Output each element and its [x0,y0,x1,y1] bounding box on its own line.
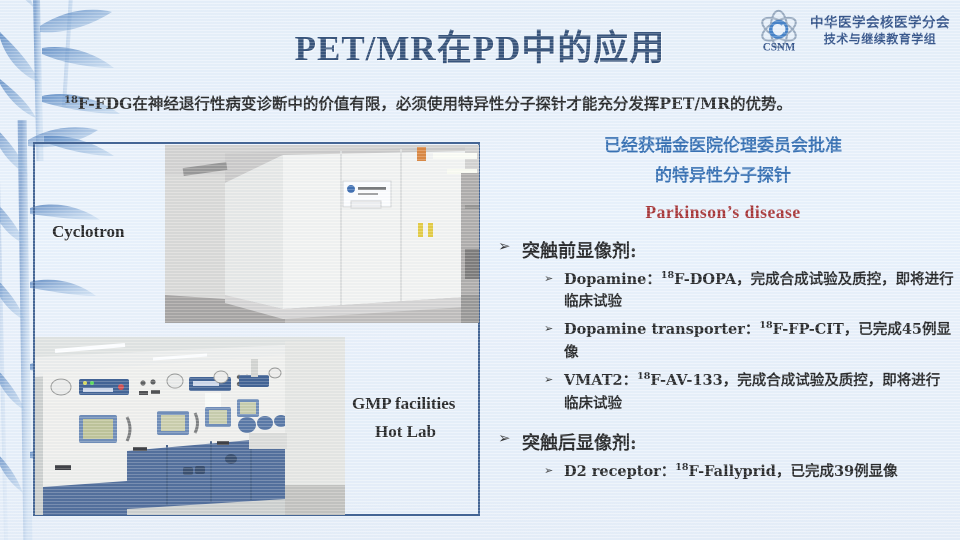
section-heading-text: 突触后显像剂: [522,429,637,455]
bullet-arrow-icon: ➢ [544,319,555,340]
lead-sentence: 18F-FDG在神经退行性病变诊断中的价值有限，必须使用特异性分子探针才能充分发… [64,92,944,114]
logo-line-2: 技术与继续教育学组 [810,32,950,47]
section-heading-presynaptic: ➢ 突触前显像剂: [492,237,954,263]
list-item: ➢ Dopamine：18F-DOPA，完成合成试验及质控，即将进行临床试验 [492,269,954,314]
bullet-arrow-icon: ➢ [498,237,512,257]
svg-text:CSNM: CSNM [763,41,796,53]
gmp-caption-line-2: Hot Lab [375,422,436,442]
item-superscript: 18 [759,321,772,332]
gmp-caption-line-1: GMP facilities [352,394,455,414]
cyclotron-photo-art [165,145,479,323]
logo-line-1: 中华医学会核医学分会 [810,15,950,32]
section-heading-postsynaptic: ➢ 突触后显像剂: [492,429,954,455]
csnm-atom-logo-icon: CSNM [754,8,804,54]
approval-line-1: 已经获瑞金医院伦理委员会批准 [492,132,954,162]
item-pre: Dopamine transporter： [564,321,759,338]
section-heading-text: 突触前显像剂: [522,237,637,263]
cyclotron-caption: Cyclotron [52,222,124,242]
hot-lab-photo-art [35,337,345,515]
item-post: F-Fallyprid，已完成39例显像 [689,463,898,480]
bullet-arrow-icon: ➢ [544,269,555,290]
bullet-arrow-icon: ➢ [498,429,512,449]
item-pre: Dopamine： [564,271,661,288]
slide-root: PET/MR在PD中的应用 CSNM 中华医学会核医学分会 技术与继续教育学组 … [0,0,960,540]
society-logo: CSNM 中华医学会核医学分会 技术与继续教育学组 [754,6,954,56]
disease-name: Parkinson’s disease [492,202,954,223]
list-item: ➢ D2 receptor：18F-Fallyprid，已完成39例显像 [492,461,954,483]
approval-line-2: 的特异性分子探针 [492,162,954,192]
list-item-text: Dopamine：18F-DOPA，完成合成试验及质控，即将进行临床试验 [564,269,954,314]
lead-superscript: 18 [64,95,78,106]
list-item-text: D2 receptor：18F-Fallyprid，已完成39例显像 [564,461,898,483]
item-pre: D2 receptor： [564,463,675,480]
item-pre: VMAT2： [564,372,637,389]
item-superscript: 18 [675,462,688,473]
hot-lab-photo [35,337,345,515]
bullet-arrow-icon: ➢ [544,461,555,482]
list-item: ➢ VMAT2：18F-AV-133，完成合成试验及质控，即将进行临床试验 [492,370,954,415]
list-item: ➢ Dopamine transporter：18F-FP-CIT，已完成45例… [492,319,954,364]
bullet-arrow-icon: ➢ [544,370,555,391]
list-item-text: Dopamine transporter：18F-FP-CIT，已完成45例显像 [564,319,954,364]
cyclotron-photo [165,145,479,323]
item-superscript: 18 [661,270,674,281]
item-superscript: 18 [637,372,650,383]
right-content-column: 已经获瑞金医院伦理委员会批准 的特异性分子探针 Parkinson’s dise… [492,132,954,484]
list-item-text: VMAT2：18F-AV-133，完成合成试验及质控，即将进行临床试验 [564,370,954,415]
lead-text: F-FDG在神经退行性病变诊断中的价值有限，必须使用特异性分子探针才能充分发挥P… [78,94,792,113]
